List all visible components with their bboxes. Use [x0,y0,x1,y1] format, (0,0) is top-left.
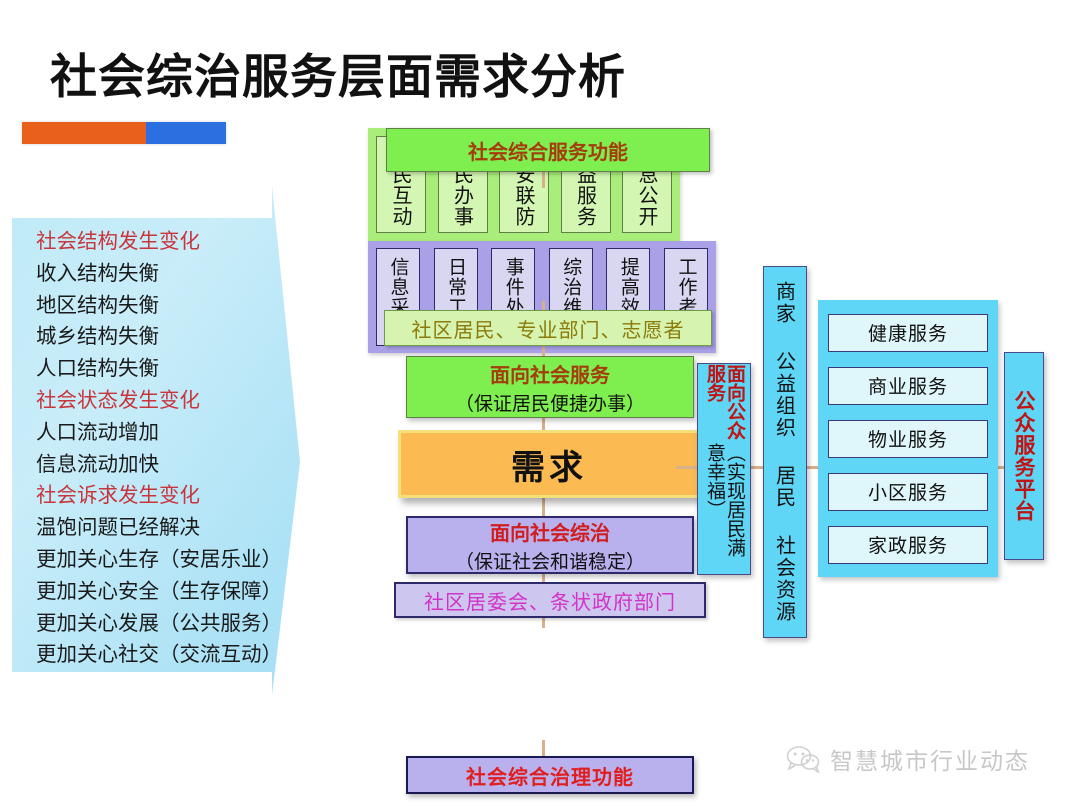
need-box: 需求 [398,430,700,498]
list-item: 城乡结构失衡 [36,321,286,353]
list-item: 更加关心安全（生存保障） [36,576,286,608]
arrow-item-list: 社会结构发生变化 收入结构失衡 地区结构失衡 城乡结构失衡 人口结构失衡 社会状… [36,226,286,671]
connector-line [542,172,545,188]
public-service-title: 面向公众服务 [704,364,744,443]
service-actors: 社区居民、专业部门、志愿者 [384,310,712,346]
governance-function-footer: 社会综合治理功能 [406,756,694,794]
list-item: 人口结构失衡 [36,353,286,385]
accent-bar-blue [146,122,226,144]
service-function-header: 社会综合服务功能 [386,128,710,172]
watermark: 智慧城市行业动态 [786,742,1030,776]
center-flow-column: 社会综合服务功能 居民互动 便民办事 平安联防 公益服务 信息公开 社区居民、专… [368,128,718,800]
accent-bar-orange [22,122,146,144]
governance-target-box: 面向社会综治 （保证社会和谐稳定） [406,516,694,574]
connector-line [542,618,545,628]
list-item: 社会状态发生变化 [36,385,286,417]
list-item: 更加关心发展（公共服务） [36,608,286,640]
slide-canvas: 社会综治服务层面需求分析 社会结构发生变化 收入结构失衡 地区结构失衡 城乡结构… [0,0,1080,810]
connector-line [542,574,545,582]
list-item: 更加关心生存（安居乐业） [36,544,286,576]
service-card[interactable]: 商业服务 [828,367,988,405]
list-item: 温饱问题已经解决 [36,512,286,544]
social-resources-box: 商家 公益组织 居民 社会资源 [763,266,807,638]
wechat-icon [786,745,820,773]
connector-line [542,301,545,310]
page-title: 社会综治服务层面需求分析 [50,38,626,107]
service-target-subtitle: （保证居民便捷办事） [455,389,645,416]
connector-line [542,498,545,516]
list-item: 社会结构发生变化 [36,226,286,258]
title-accent-bar [22,122,226,144]
list-item: 地区结构失衡 [36,290,286,322]
connector-line [542,346,545,356]
governance-target-title: 面向社会综治 [490,517,610,546]
service-card[interactable]: 小区服务 [828,473,988,511]
service-target-box: 面向社会服务 （保证居民便捷办事） [406,356,694,418]
connector-line [542,418,545,430]
public-service-subtitle: （实现居民满意幸福） [704,443,744,574]
needs-analysis-arrow: 社会结构发生变化 收入结构失衡 地区结构失衡 城乡结构失衡 人口结构失衡 社会状… [4,180,304,725]
service-card[interactable]: 物业服务 [828,420,988,458]
connector-line [542,740,545,756]
service-card[interactable]: 健康服务 [828,314,988,352]
public-services-band: 健康服务 商业服务 物业服务 小区服务 家政服务 [818,300,998,577]
list-item: 收入结构失衡 [36,258,286,290]
service-target-title: 面向社会服务 [490,359,610,388]
public-service-box: 面向公众服务 （实现居民满意幸福） [697,363,751,575]
list-item: 信息流动加快 [36,449,286,481]
list-item: 人口流动增加 [36,417,286,449]
public-service-platform-box: 公众服务平台 [1004,352,1044,560]
list-item: 社会诉求发生变化 [36,480,286,512]
governance-actors: 社区居委会、条状政府部门 [394,582,706,618]
governance-target-subtitle: （保证社会和谐稳定） [455,547,645,574]
list-item: 更加关心社交（交流互动） [36,639,286,671]
watermark-text: 智慧城市行业动态 [830,742,1030,776]
service-card[interactable]: 家政服务 [828,526,988,564]
